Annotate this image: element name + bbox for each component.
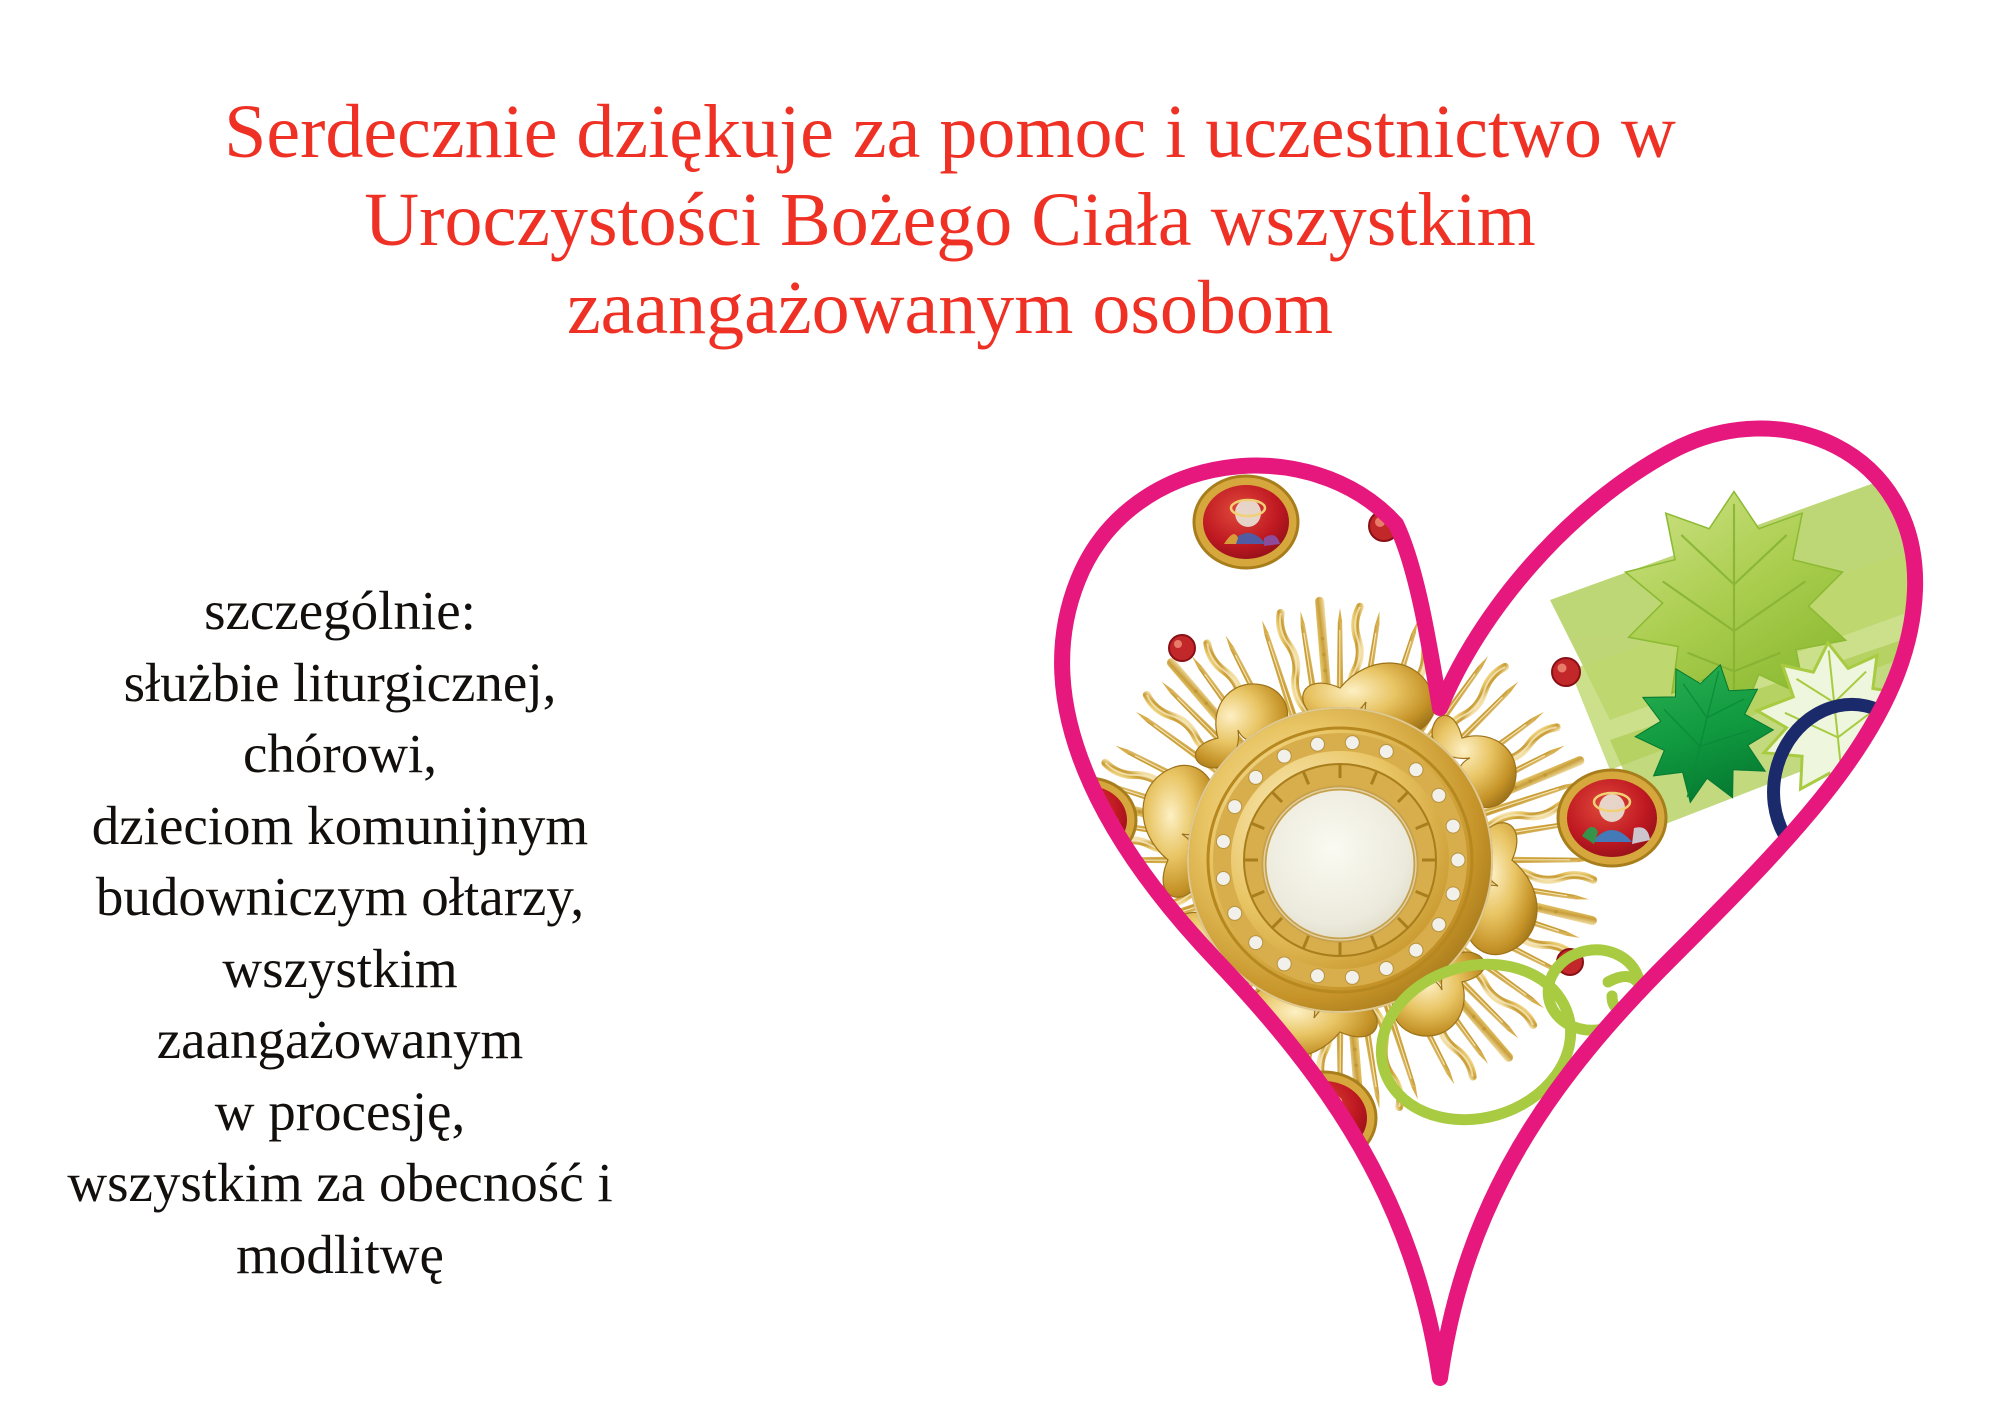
heart-monstrance-artwork [1010, 300, 2000, 1414]
list-item: wszystkim [10, 933, 670, 1005]
list-item: służbie liturgicznej, [10, 647, 670, 719]
list-item: budowniczym ołtarzy, [10, 861, 670, 933]
eucharistic-host [1264, 788, 1416, 940]
list-item: w procesję, [10, 1076, 670, 1148]
page-title-line-2: Uroczystości Bożego Ciała wszystkim [90, 176, 1810, 264]
list-item: szczególnie: [10, 575, 670, 647]
acknowledgement-list: szczególnie: służbie liturgicznej, chóro… [10, 575, 670, 1290]
heart-interior [1010, 300, 2000, 1414]
list-item: wszystkim za obecność i [10, 1147, 670, 1219]
list-item: dzieciom komunijnym [10, 790, 670, 862]
list-item: modlitwę [10, 1219, 670, 1291]
list-item: zaangażowanym [10, 1004, 670, 1076]
page-title-line-1: Serdecznie dziękuje za pomoc i uczestnic… [90, 88, 1810, 176]
list-item: chórowi, [10, 718, 670, 790]
